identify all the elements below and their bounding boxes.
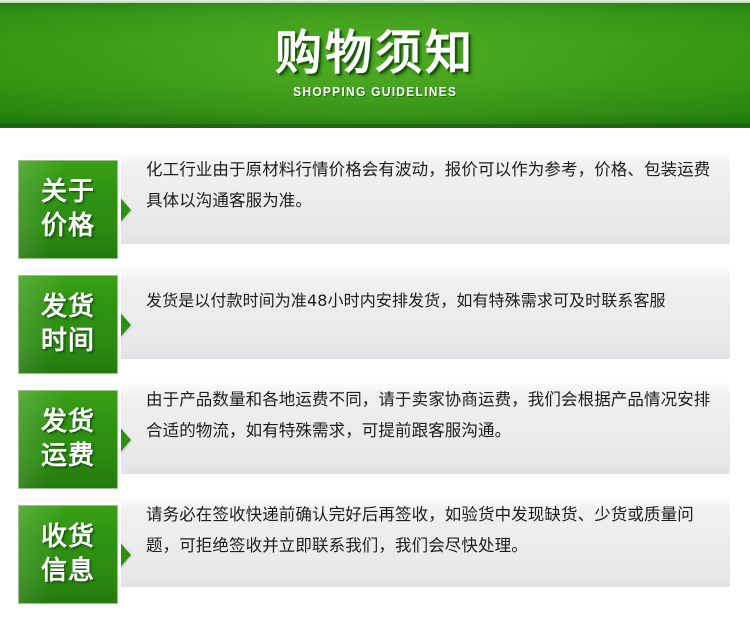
guideline-body-text: 请务必在签收快递前确认完好后再签收，如验货中发现缺货、少货或质量问题，可拒绝签收… — [146, 500, 712, 561]
guideline-label-line1: 关于 — [41, 176, 95, 210]
shopping-guidelines-page: 购物须知 SHOPPING GUIDELINES 关于 价格 化工行业由于原材料… — [0, 0, 750, 621]
arrow-right-icon — [117, 194, 131, 226]
guideline-label-line2: 价格 — [41, 210, 95, 244]
guideline-label-shipping-fee: 发货 运费 — [18, 390, 118, 489]
guideline-label-shipping-time: 发货 时间 — [18, 275, 118, 374]
guideline-body-wrap: 由于产品数量和各地运费不同，请于卖家协商运费，我们会根据产品情况安排合适的物流，… — [146, 358, 712, 473]
guideline-label-line1: 发货 — [41, 406, 95, 440]
arrow-right-icon — [117, 424, 131, 456]
arrow-right-icon — [117, 539, 131, 571]
guideline-label-line2: 运费 — [41, 440, 95, 474]
guideline-body-wrap: 化工行业由于原材料行情价格会有波动，报价可以作为参考，价格、包装运费具体以沟通客… — [146, 128, 712, 243]
guideline-row-shipping-time: 发货 时间 发货是以付款时间为准48小时内安排发货，如有特殊需求可及时联系客服 — [0, 243, 750, 358]
guideline-body-text: 化工行业由于原材料行情价格会有波动，报价可以作为参考，价格、包装运费具体以沟通客… — [146, 155, 712, 216]
page-subtitle: SHOPPING GUIDELINES — [293, 84, 457, 99]
guideline-label-line2: 时间 — [41, 325, 95, 359]
header-banner: 购物须知 SHOPPING GUIDELINES — [0, 0, 750, 128]
guideline-label-line1: 收货 — [41, 521, 95, 555]
guideline-row-price: 关于 价格 化工行业由于原材料行情价格会有波动，报价可以作为参考，价格、包装运费… — [0, 128, 750, 243]
guideline-label-price: 关于 价格 — [18, 160, 118, 259]
guideline-label-receiving-info: 收货 信息 — [18, 505, 118, 604]
guideline-row-shipping-fee: 发货 运费 由于产品数量和各地运费不同，请于卖家协商运费，我们会根据产品情况安排… — [0, 358, 750, 473]
header-banner-content: 购物须知 SHOPPING GUIDELINES — [0, 0, 750, 128]
guideline-body-text: 由于产品数量和各地运费不同，请于卖家协商运费，我们会根据产品情况安排合适的物流，… — [146, 385, 712, 446]
guideline-body-wrap: 请务必在签收快递前确认完好后再签收，如验货中发现缺货、少货或质量问题，可拒绝签收… — [146, 473, 712, 588]
guideline-label-line1: 发货 — [41, 291, 95, 325]
arrow-right-icon — [117, 309, 131, 341]
guideline-row-receiving-info: 收货 信息 请务必在签收快递前确认完好后再签收，如验货中发现缺货、少货或质量问题… — [0, 473, 750, 588]
guideline-body-wrap: 发货是以付款时间为准48小时内安排发货，如有特殊需求可及时联系客服 — [146, 243, 712, 358]
guideline-label-line2: 信息 — [41, 555, 95, 589]
guidelines-list: 关于 价格 化工行业由于原材料行情价格会有波动，报价可以作为参考，价格、包装运费… — [0, 128, 750, 588]
guideline-body-text: 发货是以付款时间为准48小时内安排发货，如有特殊需求可及时联系客服 — [146, 286, 666, 316]
page-title: 购物须知 — [275, 29, 475, 78]
